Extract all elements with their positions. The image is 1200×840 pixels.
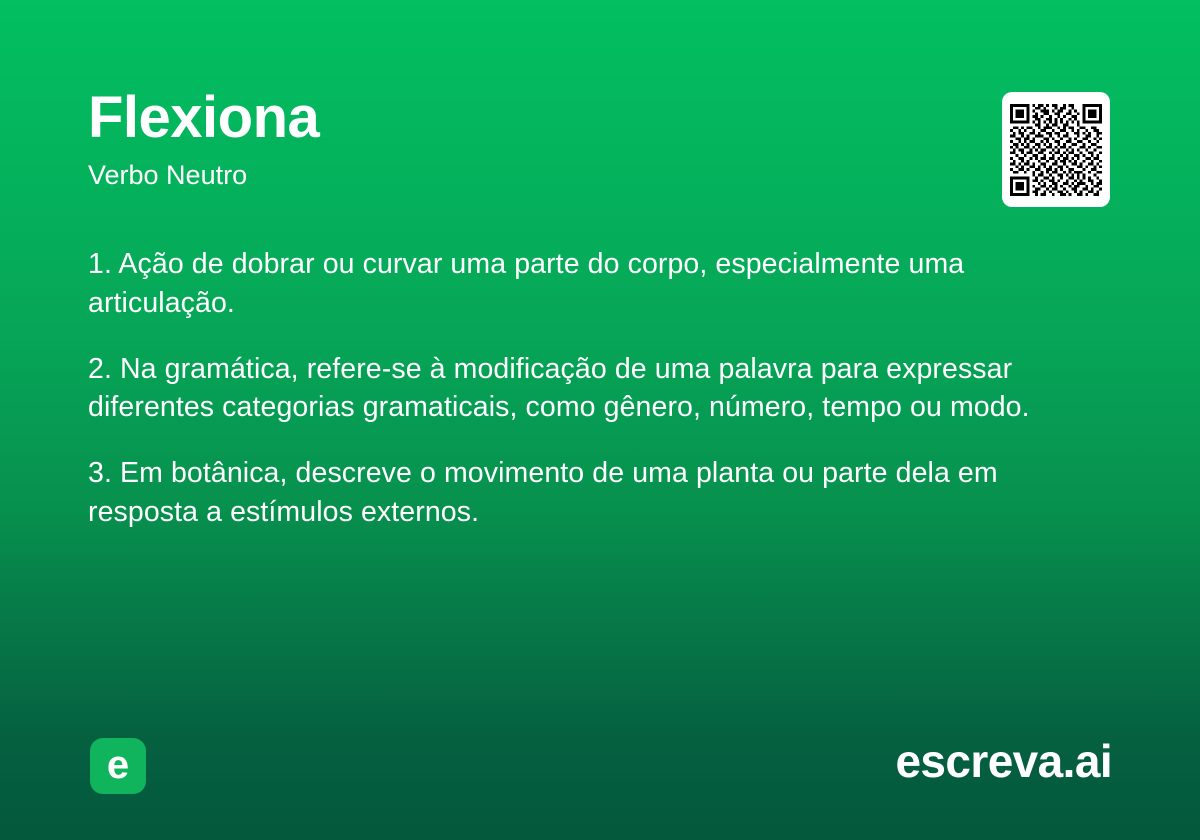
definition-list: 1. Ação de dobrar ou curvar uma parte do… [88,245,1088,532]
definition-item: 1. Ação de dobrar ou curvar uma parte do… [88,245,1088,323]
word-class-label: Verbo Neutro [88,159,1112,191]
card-footer: e escreva.ai [0,710,1200,840]
definition-item: 2. Na gramática, refere-se à modificação… [88,350,1088,428]
definition-item: 3. Em botânica, descreve o movimento de … [88,454,1088,532]
page-title: Flexiona [88,88,1112,149]
brand-logo-icon: e [90,738,146,794]
qr-code-panel[interactable] [1002,92,1110,207]
qr-code-icon [1010,104,1102,196]
brand-logo-letter: e [107,745,129,785]
dictionary-card: Flexiona Verbo Neutro [0,0,1200,840]
card-header: Flexiona Verbo Neutro [88,88,1112,191]
brand-wordmark: escreva.ai [895,732,1112,792]
